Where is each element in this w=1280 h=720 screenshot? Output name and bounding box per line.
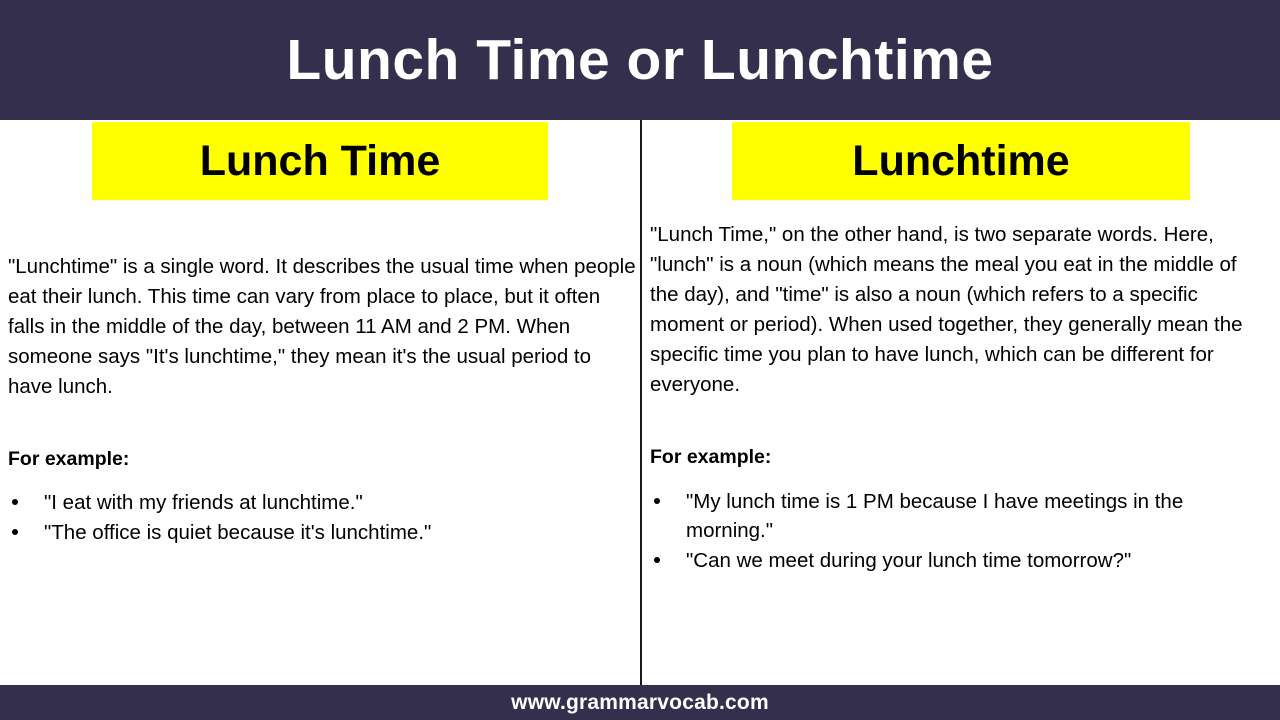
bullet-icon bbox=[654, 498, 660, 504]
footer-banner: www.grammarvocab.com bbox=[0, 685, 1280, 720]
list-item-text: "I eat with my friends at lunchtime." bbox=[44, 491, 363, 514]
column-heading-label-left: Lunch Time bbox=[200, 140, 441, 183]
header-banner: Lunch Time or Lunchtime bbox=[0, 0, 1280, 120]
list-item: "My lunch time is 1 PM because I have me… bbox=[650, 487, 1262, 545]
list-item-text: "The office is quiet because it's luncht… bbox=[44, 521, 431, 544]
column-paragraph-left: "Lunchtime" is a single word. It describ… bbox=[8, 252, 636, 402]
infographic-page: Lunch Time or Lunchtime Lunch Time "Lunc… bbox=[0, 0, 1280, 720]
list-item: "The office is quiet because it's luncht… bbox=[8, 518, 632, 547]
examples-list-left: "I eat with my friends at lunchtime." "T… bbox=[8, 488, 632, 548]
column-heading-chip-right: Lunchtime bbox=[732, 122, 1190, 200]
column-paragraph-right: "Lunch Time," on the other hand, is two … bbox=[650, 220, 1264, 400]
list-item: "Can we meet during your lunch time tomo… bbox=[650, 546, 1262, 575]
bullet-icon bbox=[12, 529, 18, 535]
list-item-text: "My lunch time is 1 PM because I have me… bbox=[686, 490, 1183, 542]
comparison-body: Lunch Time "Lunchtime" is a single word.… bbox=[0, 120, 1280, 685]
column-lunchtime: Lunchtime "Lunch Time," on the other han… bbox=[640, 120, 1280, 685]
examples-label-right: For example: bbox=[650, 448, 771, 468]
examples-list-right: "My lunch time is 1 PM because I have me… bbox=[650, 487, 1262, 576]
column-lunch-time: Lunch Time "Lunchtime" is a single word.… bbox=[0, 120, 640, 685]
page-title: Lunch Time or Lunchtime bbox=[286, 32, 993, 89]
column-heading-chip-left: Lunch Time bbox=[92, 122, 548, 200]
footer-website: www.grammarvocab.com bbox=[511, 692, 769, 713]
list-item-text: "Can we meet during your lunch time tomo… bbox=[686, 549, 1131, 572]
list-item: "I eat with my friends at lunchtime." bbox=[8, 488, 632, 517]
bullet-icon bbox=[12, 499, 18, 505]
bullet-icon bbox=[654, 557, 660, 563]
column-heading-label-right: Lunchtime bbox=[852, 140, 1069, 183]
examples-label-left: For example: bbox=[8, 450, 129, 470]
